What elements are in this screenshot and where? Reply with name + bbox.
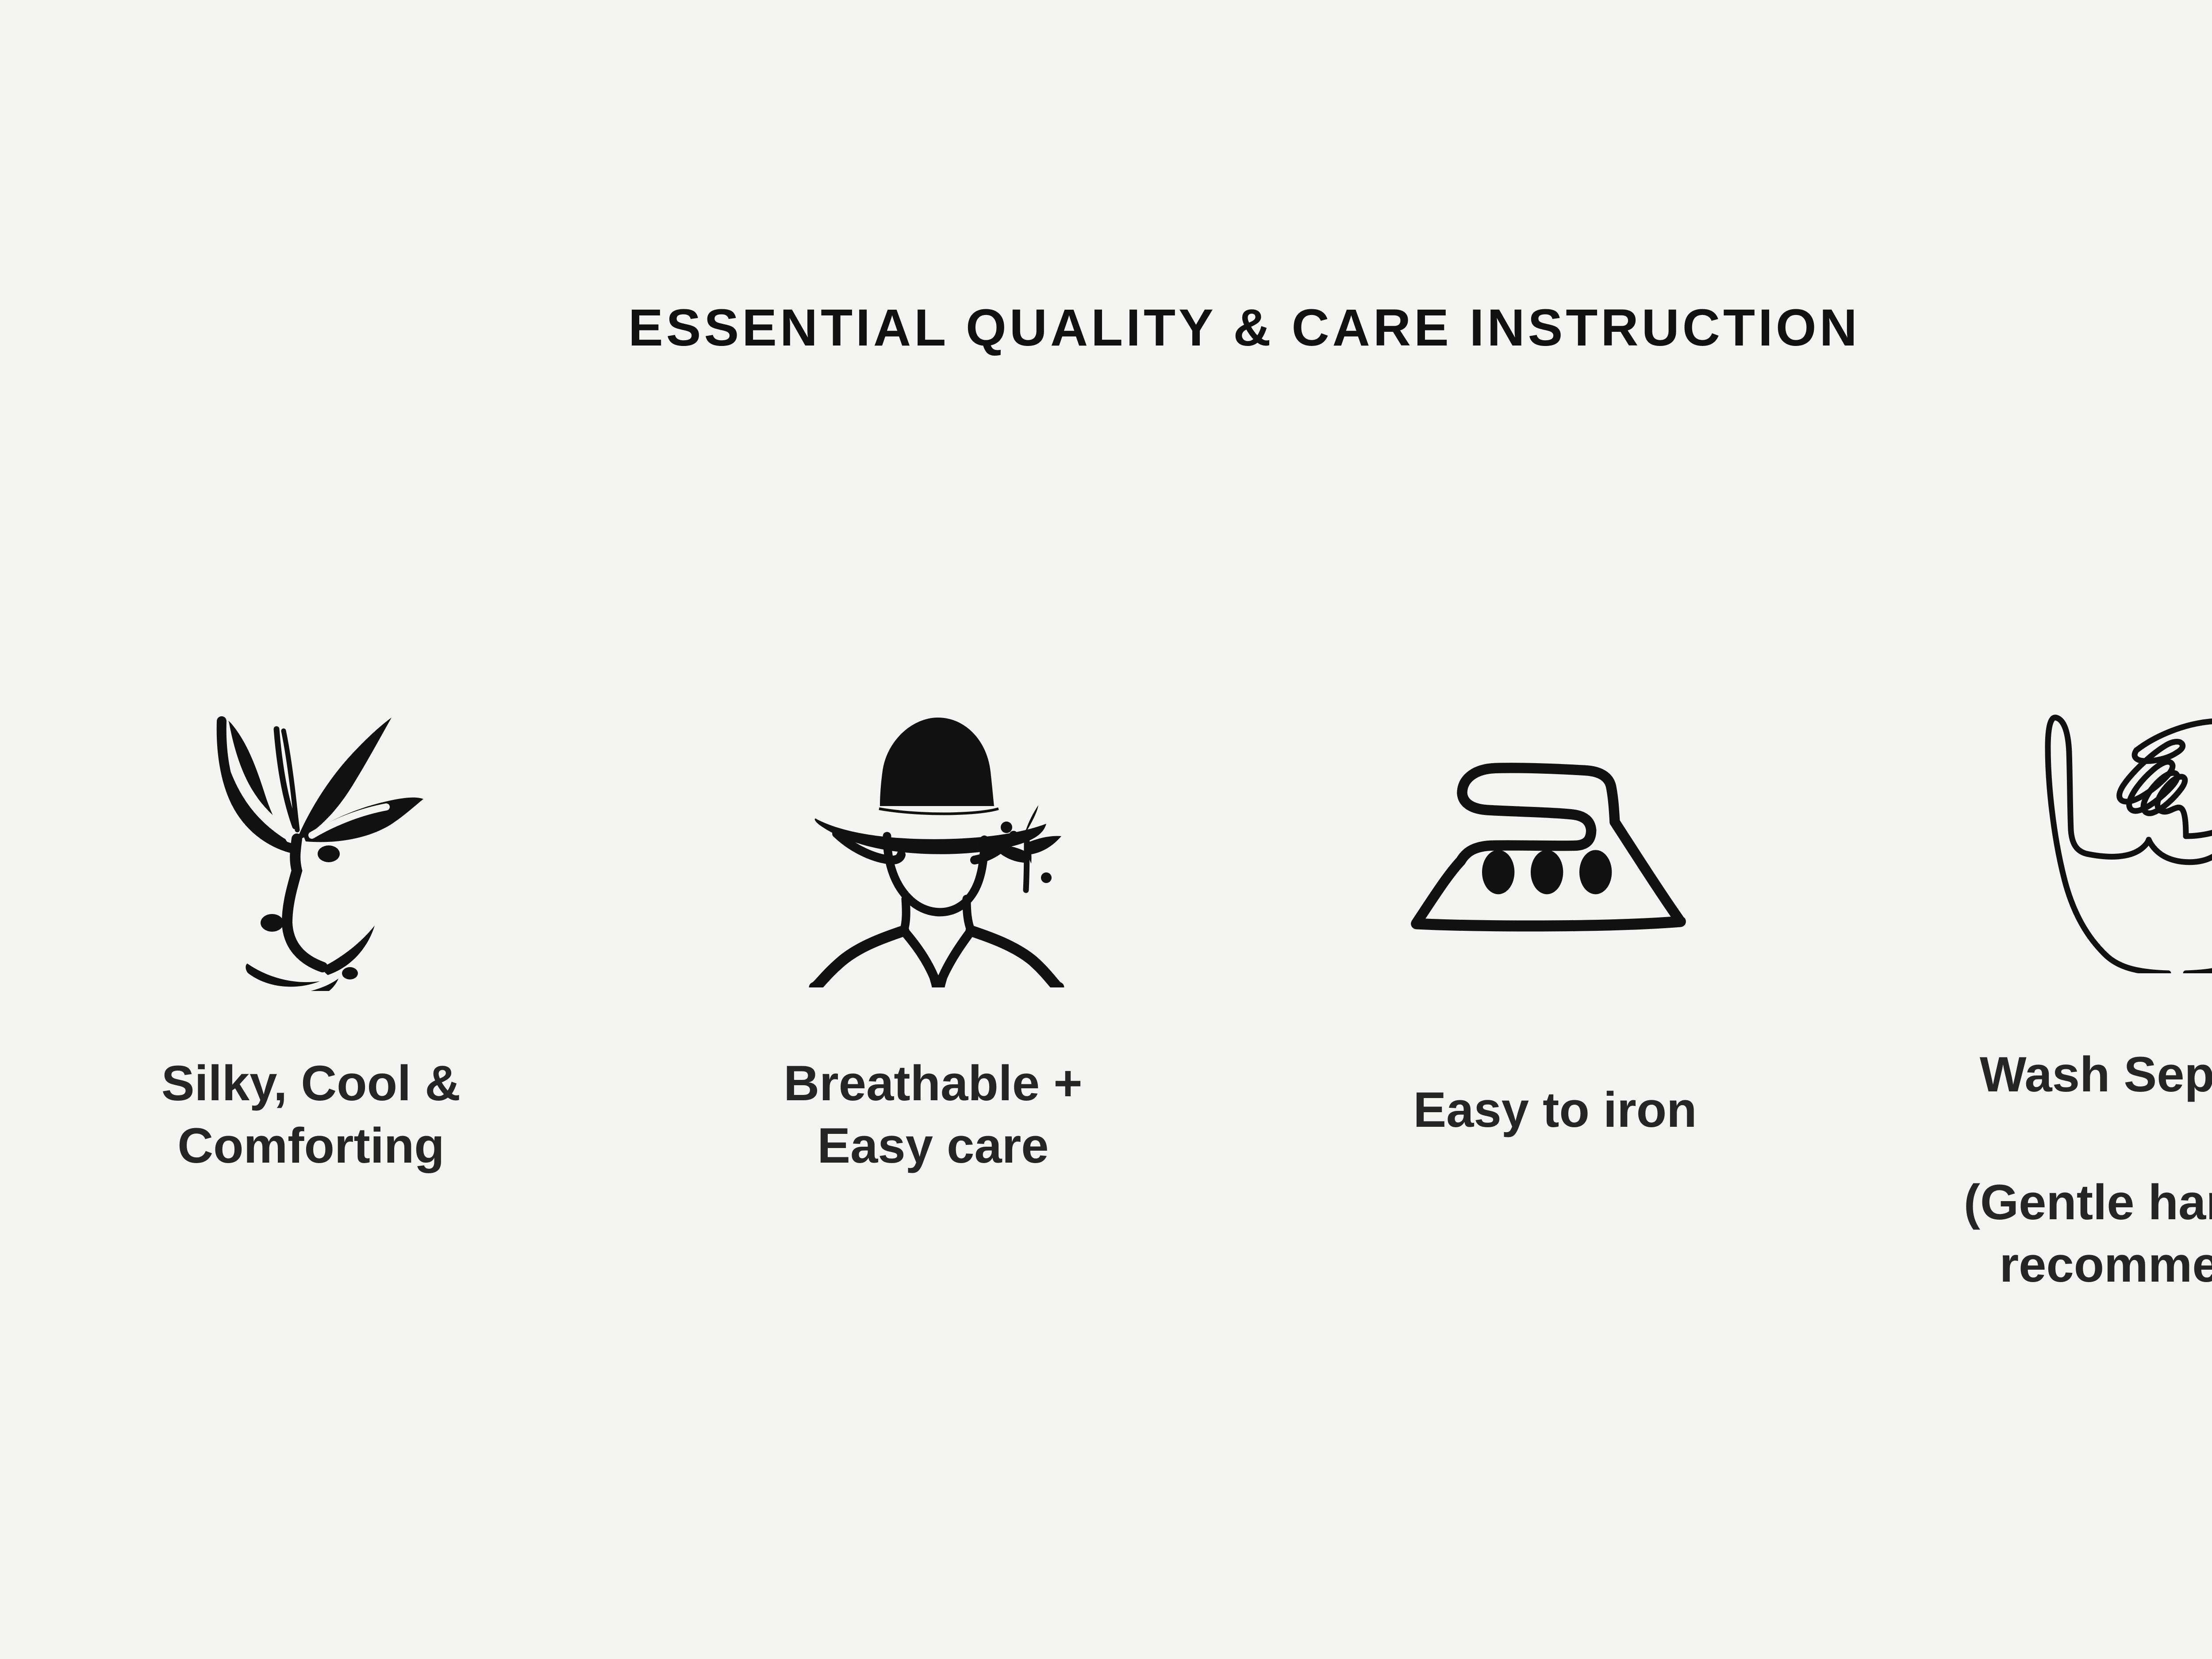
farmer-hat-icon [778, 655, 1088, 1027]
care-instruction-panel: ESSENTIAL QUALITY & CARE INSTRUCTION [0, 0, 2212, 1659]
iron-icon [1400, 655, 1710, 1056]
sprout-icon [156, 655, 466, 1031]
feature-label: Easy to iron [1356, 1079, 1754, 1141]
feature-item-easy-to-iron: Easy to iron [1244, 655, 1866, 1141]
feature-label: Silky, Cool & Comforting [112, 1052, 510, 1177]
feature-item-wash-separately: Wash Separately (Gentle handwash recomme… [1866, 655, 2212, 1296]
feature-label: Wash Separately [1978, 1043, 2212, 1106]
page-title: ESSENTIAL QUALITY & CARE INSTRUCTION [0, 297, 2212, 359]
feature-list: Silky, Cool & Comforting [0, 655, 2212, 1296]
feature-label: Breathable + Easy care [734, 1052, 1132, 1177]
feature-sublabel: (Gentle handwash recommended) [1943, 1171, 2212, 1296]
handwash-basin-icon [2022, 655, 2212, 1040]
feature-item-silky-cool: Silky, Cool & Comforting [0, 655, 622, 1177]
feature-item-breathable-easy-care: Breathable + Easy care [622, 655, 1244, 1177]
